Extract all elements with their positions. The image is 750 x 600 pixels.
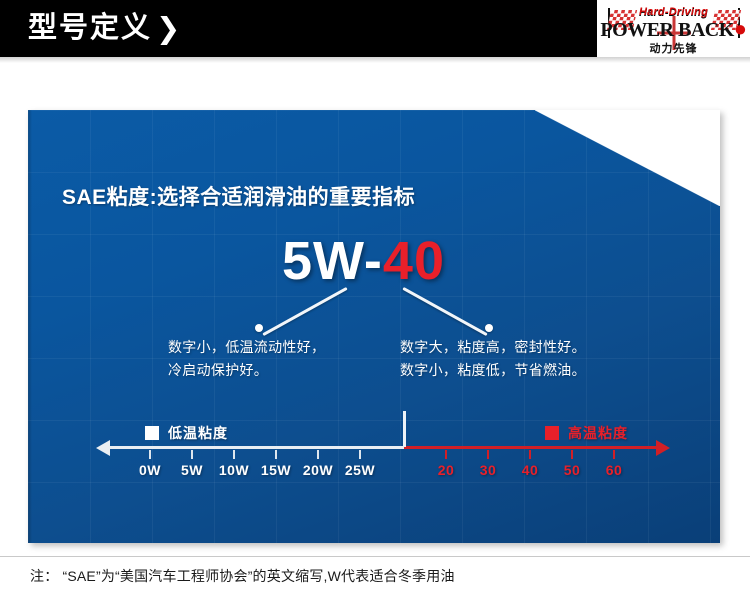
- axis-tick-10W: [233, 450, 235, 459]
- note-hot-side: 数字大，粘度高，密封性好。 数字小，粘度低，节省燃油。: [400, 336, 586, 382]
- axis-high-temp: [404, 446, 660, 449]
- axis-tick-label-30: 30: [480, 462, 497, 478]
- axis-tick-25W: [359, 450, 361, 459]
- legend-high-temp-label: 高温粘度: [568, 423, 628, 443]
- axis-tick-label-25W: 25W: [345, 462, 375, 478]
- pointer-dot-left: [255, 324, 263, 332]
- legend-swatch-white-icon: [145, 426, 159, 440]
- legend-high-temp-viscosity: 高温粘度: [545, 423, 628, 443]
- axis-center-divider: [403, 411, 406, 447]
- note-hot-line-2: 数字小，粘度低，节省燃油。: [400, 359, 586, 382]
- legend-low-temp-label: 低温粘度: [168, 423, 228, 443]
- axis-tick-5W: [191, 450, 193, 459]
- section-number-watermark: 01: [641, 114, 702, 181]
- logo-wordmark: POWER BACK●: [597, 18, 750, 41]
- axis-tick-50: [571, 450, 573, 459]
- page-title: 型号定义: [28, 9, 152, 47]
- viscosity-grade: 5W-40: [282, 232, 445, 290]
- arrow-left-icon: [96, 440, 110, 456]
- header-divider: [0, 57, 750, 63]
- logo-chinese-name: 动力先锋: [597, 40, 750, 56]
- axis-tick-30: [487, 450, 489, 459]
- note-cold-side: 数字小，低温流动性好， 冷启动保护好。: [168, 336, 325, 382]
- panel-grid-texture: [28, 110, 720, 543]
- pointer-dot-right: [485, 324, 493, 332]
- axis-tick-20W: [317, 450, 319, 459]
- axis-tick-15W: [275, 450, 277, 459]
- axis-tick-label-0W: 0W: [139, 462, 161, 478]
- axis-tick-label-40: 40: [522, 462, 539, 478]
- pointer-line-right-bar: [402, 287, 487, 336]
- note-cold-line-1: 数字小，低温流动性好，: [168, 336, 325, 359]
- axis-tick-label-10W: 10W: [219, 462, 249, 478]
- chevron-right-icon: ❯: [156, 12, 180, 46]
- footer-divider: [0, 556, 750, 557]
- logo-dot-icon: ●: [734, 16, 747, 41]
- viscosity-grade-cold: 5W-: [282, 231, 383, 291]
- legend-low-temp-viscosity: 低温粘度: [145, 423, 228, 443]
- axis-tick-label-50: 50: [564, 462, 581, 478]
- legend-swatch-red-icon: [545, 426, 559, 440]
- axis-tick-20: [445, 450, 447, 459]
- panel-corner-cut: [535, 110, 720, 206]
- axis-tick-label-20: 20: [438, 462, 455, 478]
- note-cold-line-2: 冷启动保护好。: [168, 359, 325, 382]
- axis-tick-label-5W: 5W: [181, 462, 203, 478]
- panel-left-edge: [28, 110, 32, 543]
- panel-headline: SAE粘度:选择合适润滑油的重要指标: [62, 181, 415, 211]
- content-panel: 01: [28, 110, 720, 543]
- note-hot-line-1: 数字大，粘度高，密封性好。: [400, 336, 586, 359]
- viscosity-grade-hot: 40: [383, 231, 445, 291]
- axis-tick-label-15W: 15W: [261, 462, 291, 478]
- pointer-line-left: [255, 292, 355, 334]
- brand-logo: Hard-Driving POWER BACK● 动力先锋: [597, 0, 750, 57]
- axis-tick-40: [529, 450, 531, 459]
- axis-tick-0W: [149, 450, 151, 459]
- pointer-line-right: [395, 292, 495, 334]
- axis-tick-60: [613, 450, 615, 459]
- pointer-line-left-bar: [262, 287, 347, 336]
- axis-tick-label-60: 60: [606, 462, 623, 478]
- arrow-right-icon: [656, 440, 670, 456]
- axis-low-temp: [108, 446, 404, 449]
- footer-note: 注： “SAE”为“美国汽车工程师协会”的英文缩写,W代表适合冬季用油: [30, 566, 455, 586]
- axis-tick-label-20W: 20W: [303, 462, 333, 478]
- logo-tagline: Hard-Driving: [597, 6, 750, 18]
- logo-wordmark-text: POWER BACK: [600, 19, 733, 41]
